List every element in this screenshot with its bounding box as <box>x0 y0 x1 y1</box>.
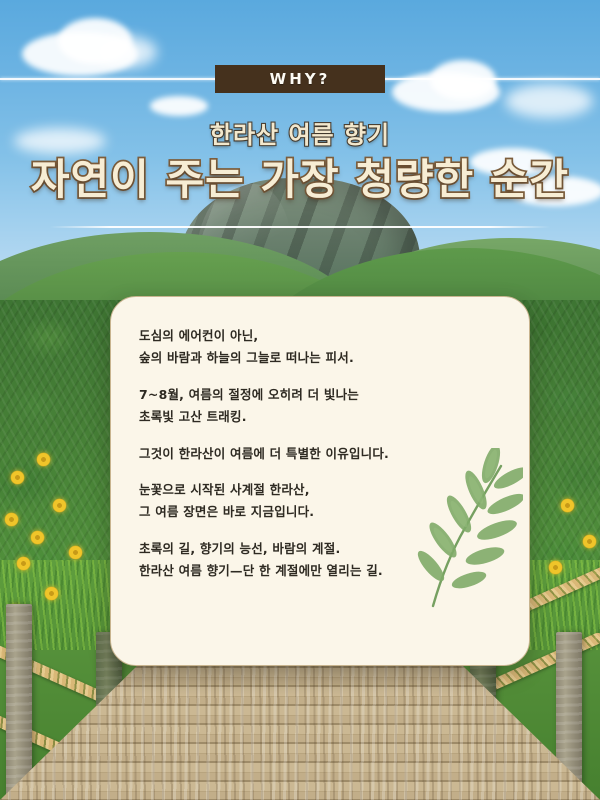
cloud <box>95 36 157 68</box>
poster-root: WHY? 한라산 여름 향기 자연이 주는 가장 청량한 순간 도심의 에어컨이… <box>0 0 600 800</box>
card-text-line: 7~8월, 여름의 절정에 오히려 더 빛나는 <box>139 384 501 406</box>
cloud <box>150 96 208 116</box>
poster-subtitle: 한라산 여름 향기 <box>0 115 600 150</box>
poster-title: 자연이 주는 가장 청량한 순간 <box>0 146 600 207</box>
wildflower <box>16 556 31 571</box>
wildflower <box>582 534 597 549</box>
cloud <box>505 84 593 118</box>
card-paragraph: 7~8월, 여름의 절정에 오히려 더 빛나는초록빛 고산 트래킹. <box>139 384 501 428</box>
wildflower <box>44 586 59 601</box>
wildflower <box>52 498 67 513</box>
wildflower <box>4 512 19 527</box>
card-paragraph: 도심의 에어컨이 아닌,숲의 바람과 하늘의 그늘로 떠나는 피서. <box>139 325 501 369</box>
wildflower <box>30 530 45 545</box>
wildflower <box>10 470 25 485</box>
cloud <box>430 60 496 100</box>
card-text-line: 숲의 바람과 하늘의 그늘로 떠나는 피서. <box>139 347 501 369</box>
wildflower <box>548 560 563 575</box>
content-card: 도심의 에어컨이 아닌,숲의 바람과 하늘의 그늘로 떠나는 피서.7~8월, … <box>110 296 530 666</box>
card-text-line: 도심의 에어컨이 아닌, <box>139 325 501 347</box>
wildflower <box>560 498 575 513</box>
wildflower <box>68 545 83 560</box>
why-badge: WHY? <box>215 65 385 93</box>
card-text-line: 초록빛 고산 트래킹. <box>139 406 501 428</box>
railing-post-left-outer <box>6 604 32 800</box>
divider-line-bottom <box>50 226 550 228</box>
leaf-branch-icon <box>393 448 523 613</box>
wildflower <box>36 452 51 467</box>
